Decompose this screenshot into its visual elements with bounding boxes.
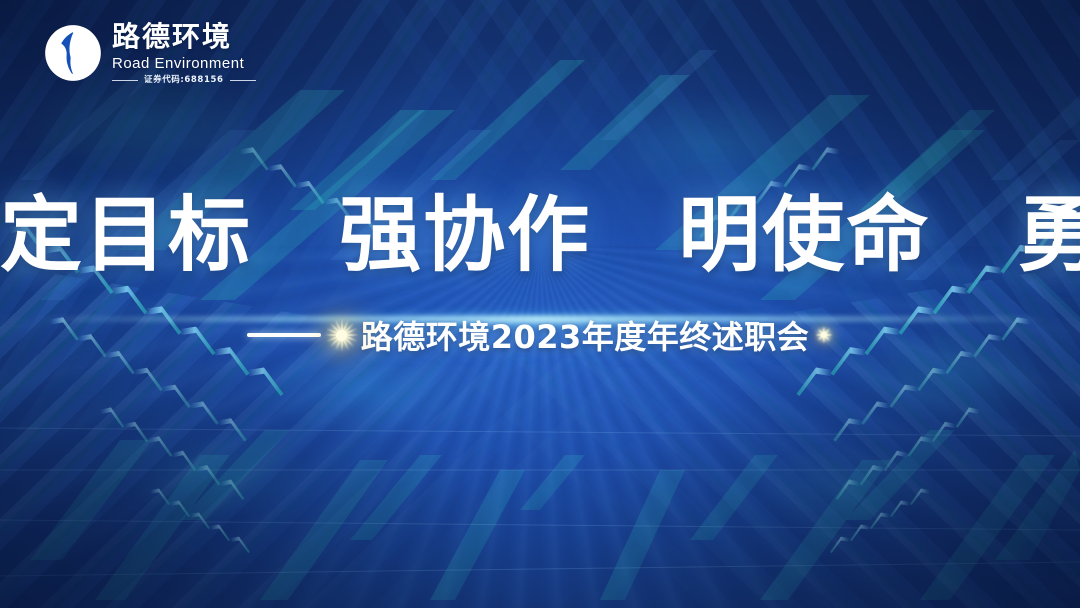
company-name-en: Road Environment [112,56,256,71]
corner-vignette-decoration [0,0,1080,608]
headline-part-4: 勇担当 [1017,188,1080,283]
slide-subtitle-row: 路德环境2023年度年终述职会 [0,312,1080,358]
presentation-slide: 路德环境 Road Environment 证券代码:688156 定目标 强协… [0,0,1080,608]
sparkle-star-icon-left [325,318,359,352]
perspective-ray-fan-decoration [0,246,1080,608]
stock-code-left-rule [112,80,138,81]
headline-part-2: 强协作 [339,188,591,283]
stock-code-label: 证券代码:688156 [144,76,224,85]
stock-code-row: 证券代码:688156 [112,76,256,85]
headline-part-1: 定目标 [0,188,252,283]
slide-subtitle-text: 路德环境2023年度年终述职会 [361,312,810,358]
headline-part-3: 明使命 [678,188,930,283]
parallelogram-blocks-decoration [0,0,1080,608]
subtitle-left-rule [247,333,321,337]
road-environment-flame-circle-logo-icon [44,24,102,82]
company-logo: 路德环境 Road Environment 证券代码:688156 [44,21,256,85]
sparkle-star-icon-right [815,326,833,344]
logo-text-block: 路德环境 Road Environment 证券代码:688156 [112,21,256,85]
teal-glow-accents-decoration [0,0,1080,608]
company-name-cn: 路德环境 [112,23,256,51]
slide-headline: 定目标 强协作 明使命 勇担当 [0,168,1080,287]
stock-code-right-rule [230,80,256,81]
